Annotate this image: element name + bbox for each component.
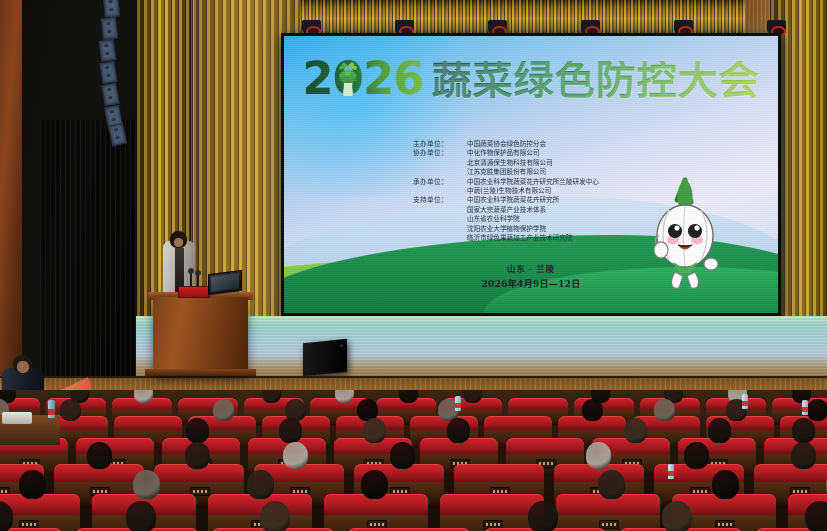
organizer-value: 临沂市绿色果蔬加工产业技术研究院 [467, 234, 573, 243]
audience-head [335, 390, 354, 403]
podium [153, 297, 248, 375]
audience-head [805, 501, 827, 531]
audience-head [134, 390, 153, 403]
year-text: 2026 [302, 52, 423, 105]
audience-head [463, 390, 482, 403]
audience-head [684, 442, 709, 469]
acoustic-panel [99, 39, 117, 62]
organizer-value: 江苏克胜集团股份有限公司 [467, 168, 553, 177]
stage-light [674, 20, 693, 34]
audience-area [0, 390, 827, 531]
audience-head [133, 470, 160, 499]
seat[interactable] [754, 464, 827, 482]
audience-head [654, 399, 675, 421]
audience-head [361, 470, 388, 499]
organizer-values: 中国农业科学院蔬菜花卉研究所国家大宗蔬菜产业技术体系山东省农业科学院沈阳农业大学… [467, 196, 573, 243]
stage-light [767, 20, 786, 34]
audience-head [598, 470, 625, 499]
organizer-values: 中化作物保护品有限公司北京清源保生物科技有限公司江苏克胜集团股份有限公司 [467, 149, 553, 177]
left-wall-acoustic-ribs [40, 120, 140, 400]
audience-head [185, 442, 210, 469]
organizer-label: 承办单位： [413, 178, 467, 197]
audience-head [528, 501, 558, 531]
audience-head [447, 418, 470, 443]
audience-head [283, 442, 308, 469]
stage-light [302, 20, 321, 34]
organizer-label: 主办单位： [413, 140, 467, 149]
audience-head [186, 418, 209, 443]
audience-head [390, 442, 415, 469]
podium-base [145, 369, 256, 376]
organizer-value: 中化作物保护品有限公司 [467, 149, 553, 158]
audience-head [247, 470, 274, 499]
audience-head [662, 501, 692, 531]
audience-head [126, 501, 156, 531]
audience-head [807, 399, 827, 421]
location-text: 山东 · 兰陵 [507, 263, 555, 275]
audience-head [624, 418, 647, 443]
organizer-values: 中国蔬菜协会绿色防控分会 [467, 140, 546, 149]
organizer-label: 协办单位： [413, 149, 467, 177]
water-bottle [742, 394, 748, 409]
seat-number-plate [599, 520, 619, 529]
organizer-row: 承办单位：中国农业科学院蔬菜花卉研究所兰陵研发中心中蔬(兰陵)生物技术有限公司 [413, 178, 649, 197]
seat[interactable] [506, 438, 584, 454]
year-2026: 2026 [302, 56, 423, 101]
seat[interactable] [508, 398, 568, 410]
organizer-value: 中国农业科学院蔬菜花卉研究所兰陵研发中心 [467, 178, 599, 187]
acoustic-panel [103, 0, 120, 18]
garlic-mascot [639, 174, 731, 292]
organizer-value: 北京清源保生物科技有限公司 [467, 159, 553, 168]
stage-light [581, 20, 600, 34]
audience-head [260, 501, 290, 531]
podium-red-sign [178, 286, 210, 298]
audience-head [582, 399, 603, 421]
date-text: 2026年4月9日—12日 [482, 277, 581, 290]
audience-head [791, 442, 816, 469]
auditorium-photo: 2026 蔬菜绿色防控大会 主办单位：中国蔬菜协会绿色防控分会协办单位：中化作物… [0, 0, 827, 531]
audience-head [279, 418, 302, 443]
audience-head [19, 470, 46, 499]
organizer-row: 支持单位：中国农业科学院蔬菜花卉研究所国家大宗蔬菜产业技术体系山东省农业科学院沈… [413, 196, 649, 243]
organizer-row: 主办单位：中国蔬菜协会绿色防控分会 [413, 140, 649, 149]
organizer-value: 山东省农业科学院 [467, 215, 573, 224]
audience-head [262, 390, 281, 403]
organizer-value: 沈阳农业大学植物保护学院 [467, 225, 573, 234]
audience-head [363, 418, 386, 443]
water-bottle [48, 400, 55, 418]
white-document [2, 412, 32, 424]
audience-head [87, 442, 112, 469]
organizer-label: 支持单位： [413, 196, 467, 243]
seat[interactable] [114, 416, 182, 430]
led-screen: 2026 蔬菜绿色防控大会 主办单位：中国蔬菜协会绿色防控分会协办单位：中化作物… [284, 36, 778, 313]
organizer-values: 中国农业科学院蔬菜花卉研究所兰陵研发中心中蔬(兰陵)生物技术有限公司 [467, 178, 599, 197]
broccoli-icon [335, 59, 361, 97]
acoustic-panel [99, 61, 117, 84]
organizer-row: 协办单位：中化作物保护品有限公司北京清源保生物科技有限公司江苏克胜集团股份有限公… [413, 149, 649, 177]
stage-light [488, 20, 507, 34]
screen-headline: 2026 蔬菜绿色防控大会 [284, 56, 778, 101]
audience-head [712, 470, 739, 499]
organizer-value: 国家大宗蔬菜产业技术体系 [467, 206, 573, 215]
seat[interactable] [484, 416, 552, 430]
organizer-value: 中国蔬菜协会绿色防控分会 [467, 140, 546, 149]
audience-head [792, 418, 815, 443]
audience-head [399, 390, 418, 403]
front-presenter-face [17, 361, 29, 373]
acoustic-panel [101, 17, 118, 40]
audience-head [586, 442, 611, 469]
laptop [208, 270, 242, 295]
audience-head [213, 399, 234, 421]
audience-head [60, 399, 81, 421]
organizer-value: 中国农业科学院蔬菜花卉研究所 [467, 196, 573, 205]
stage-monitor-speaker [303, 339, 347, 377]
audience-head [708, 418, 731, 443]
conference-title: 蔬菜绿色防控大会 [432, 61, 760, 101]
seat[interactable] [454, 464, 544, 482]
water-bottle [455, 396, 461, 411]
speaker-face [174, 238, 183, 247]
water-bottle [668, 464, 674, 479]
water-bottle [802, 400, 808, 415]
stage-light [395, 20, 414, 34]
